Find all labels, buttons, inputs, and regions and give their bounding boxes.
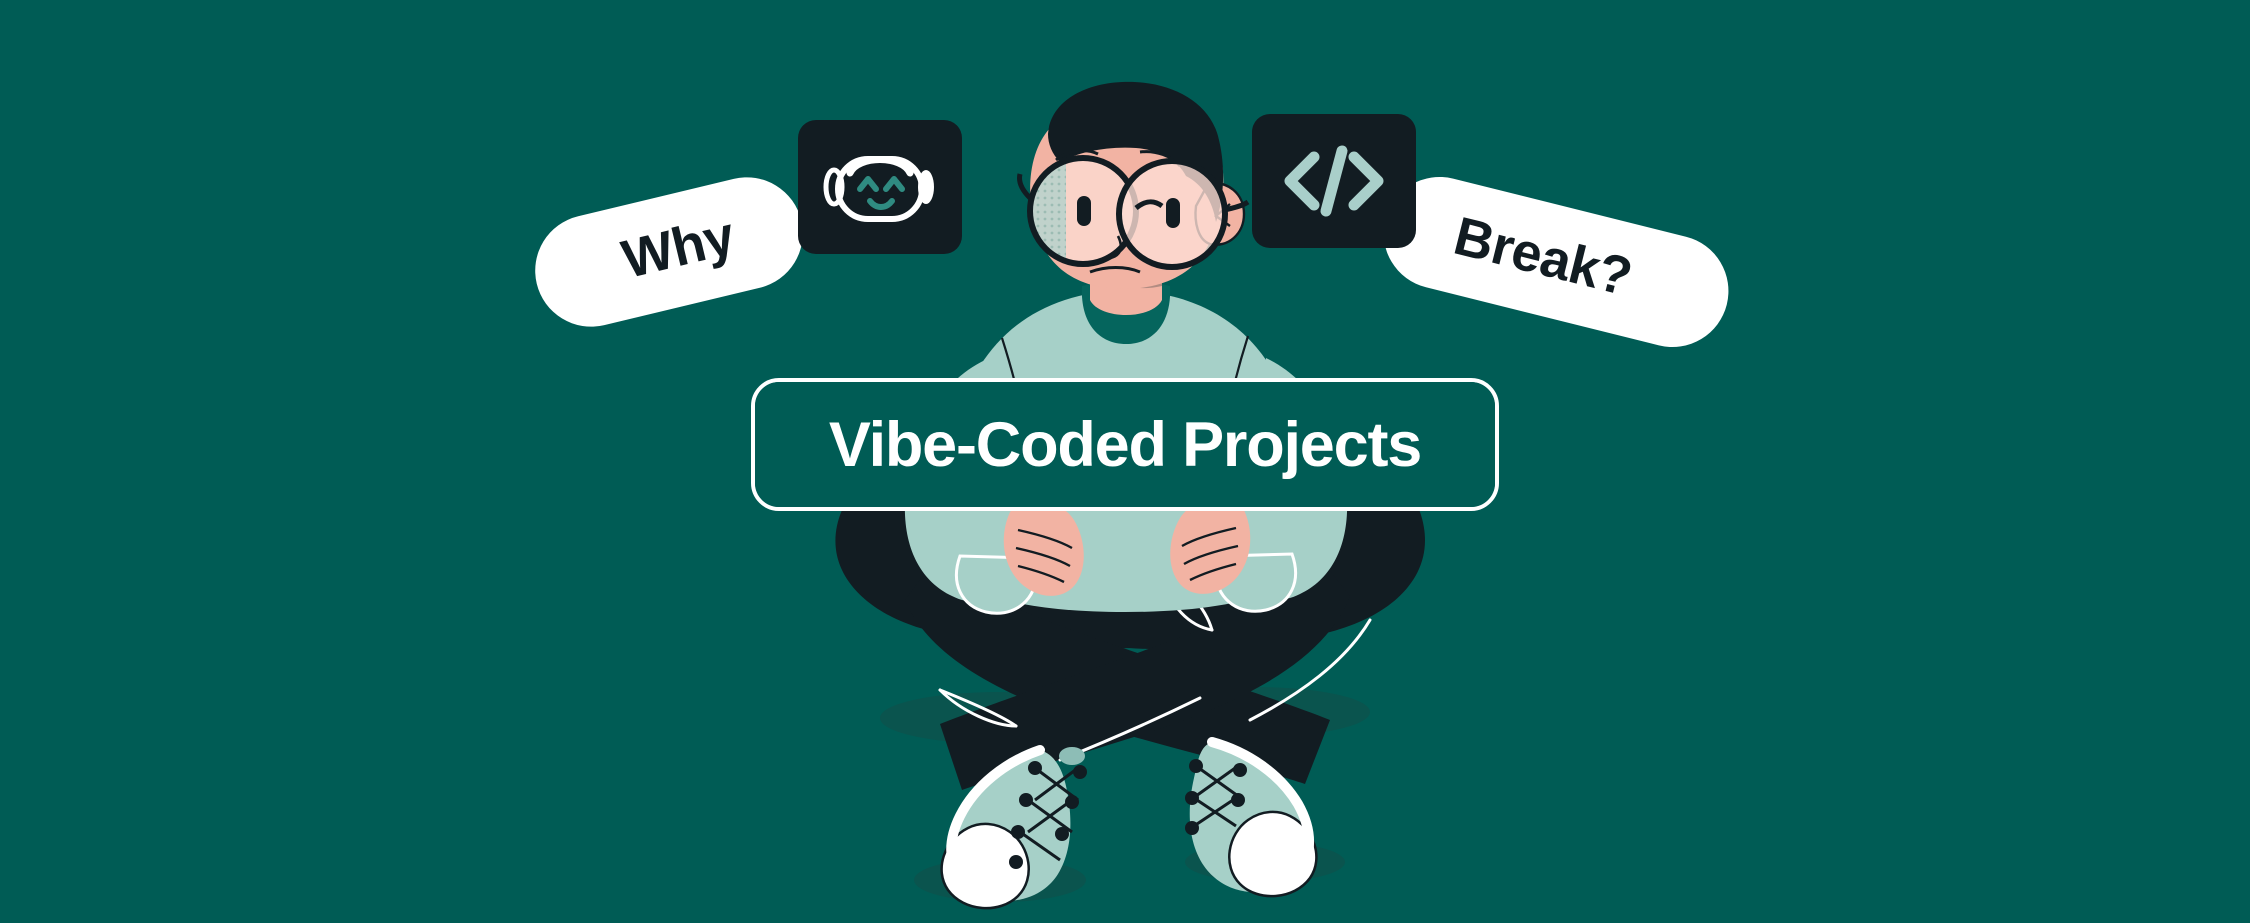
speech-bubble-break-text: Break?: [1448, 205, 1638, 309]
robot-face-icon: [820, 145, 940, 229]
code-speech-bubble[interactable]: [1252, 114, 1416, 248]
robot-speech-bubble[interactable]: [798, 120, 962, 254]
code-tags-icon: [1278, 139, 1390, 223]
title-banner[interactable]: Vibe-Coded Projects: [751, 378, 1499, 511]
page-title: Vibe-Coded Projects: [829, 409, 1421, 481]
head: [1019, 82, 1248, 315]
speech-bubble-why-text: Why: [616, 204, 740, 291]
illustration-canvas: Why Break?: [0, 0, 2250, 923]
